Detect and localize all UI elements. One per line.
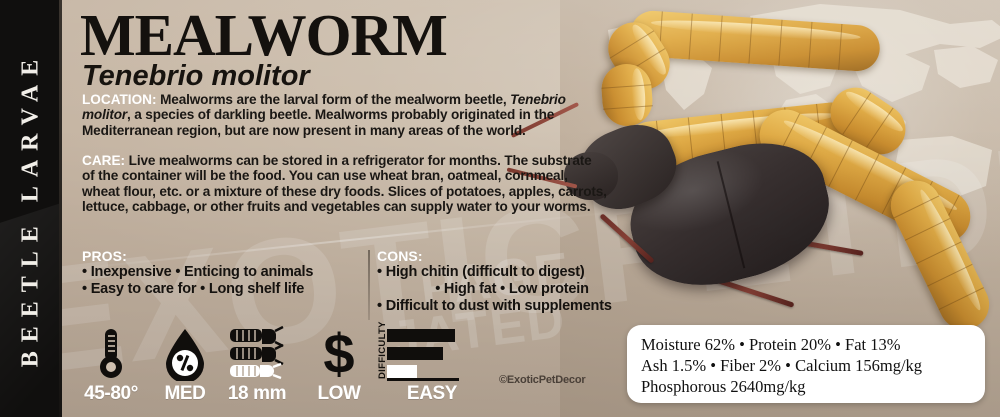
humidity-label: MED — [146, 383, 224, 405]
difficulty-bar-hard — [387, 329, 455, 342]
dollar-sign-icon: $ — [321, 325, 357, 381]
location-paragraph: LOCATION: Mealworms are the larval form … — [82, 92, 607, 138]
attribute-temperature: 45-80° — [72, 325, 150, 415]
care-heading: CARE: — [82, 153, 125, 168]
pros-heading: PROS: — [82, 248, 352, 264]
mealworm-size-icon — [228, 325, 286, 381]
pros-line-2: • Easy to care for • Long shelf life — [82, 281, 352, 298]
cons-line-3: • Difficult to dust with supplements — [377, 298, 647, 315]
nutrition-line-2: Ash 1.5% • Fiber 2% • Calcium 156mg/kg — [641, 355, 971, 376]
copyright-notice: ©ExoticPetDecor — [499, 374, 585, 386]
location-heading: LOCATION: — [82, 92, 157, 107]
attribute-humidity: MED — [146, 325, 224, 415]
attribute-difficulty: DIFFICULTY EASY — [368, 325, 478, 415]
size-label: 18 mm — [218, 383, 296, 405]
difficulty-label: EASY — [368, 383, 478, 405]
svg-text:$: $ — [323, 325, 354, 381]
attribute-icon-row: 45-80° MED — [72, 325, 472, 415]
care-body: Live mealworms can be stored in a refrig… — [82, 153, 607, 214]
nutrition-line-3: Phosphorous 2640mg/kg — [641, 376, 971, 397]
cons-column: CONS: • High chitin (difficult to digest… — [377, 248, 647, 315]
location-body-post: , a species of darkling beetle. Mealworm… — [82, 107, 554, 137]
attribute-size: 18 mm — [218, 325, 296, 415]
page-title: MEALWORM — [80, 6, 447, 65]
scientific-name: Tenebrio molitor — [82, 62, 310, 91]
pros-cons-divider — [368, 250, 370, 320]
nutrition-box: Moisture 62% • Protein 20% • Fat 13% Ash… — [627, 325, 985, 403]
temperature-label: 45-80° — [72, 383, 150, 405]
nutrition-line-1: Moisture 62% • Protein 20% • Fat 13% — [641, 334, 971, 355]
cost-label: LOW — [300, 383, 378, 405]
thermometer-icon — [94, 327, 128, 381]
location-body-pre: Mealworms are the larval form of the mea… — [157, 92, 511, 107]
cons-line-2: • High fat • Low protein — [377, 281, 647, 298]
pros-line-1: • Inexpensive • Enticing to animals — [82, 264, 352, 281]
pros-cons-block: PROS: • Inexpensive • Enticing to animal… — [82, 248, 642, 320]
humidity-drop-icon — [163, 327, 207, 381]
care-paragraph: CARE: Live mealworms can be stored in a … — [82, 153, 607, 215]
sidebar-category-label: BEETLE LARVAE — [18, 50, 45, 366]
difficulty-bar-medium — [387, 347, 443, 360]
difficulty-baseline — [387, 378, 459, 381]
pros-column: PROS: • Inexpensive • Enticing to animal… — [82, 248, 352, 298]
difficulty-bar-easy-active — [387, 365, 417, 378]
cons-heading: CONS: — [377, 248, 647, 264]
category-sidebar: BEETLE LARVAE — [0, 0, 62, 417]
difficulty-bars-icon: DIFFICULTY — [369, 325, 477, 381]
product-label: EXOTICPETDECOR PAGE JATED BEETLE LARVAE … — [0, 0, 1000, 417]
attribute-cost: $ LOW — [300, 325, 378, 415]
cons-line-1: • High chitin (difficult to digest) — [377, 264, 647, 281]
